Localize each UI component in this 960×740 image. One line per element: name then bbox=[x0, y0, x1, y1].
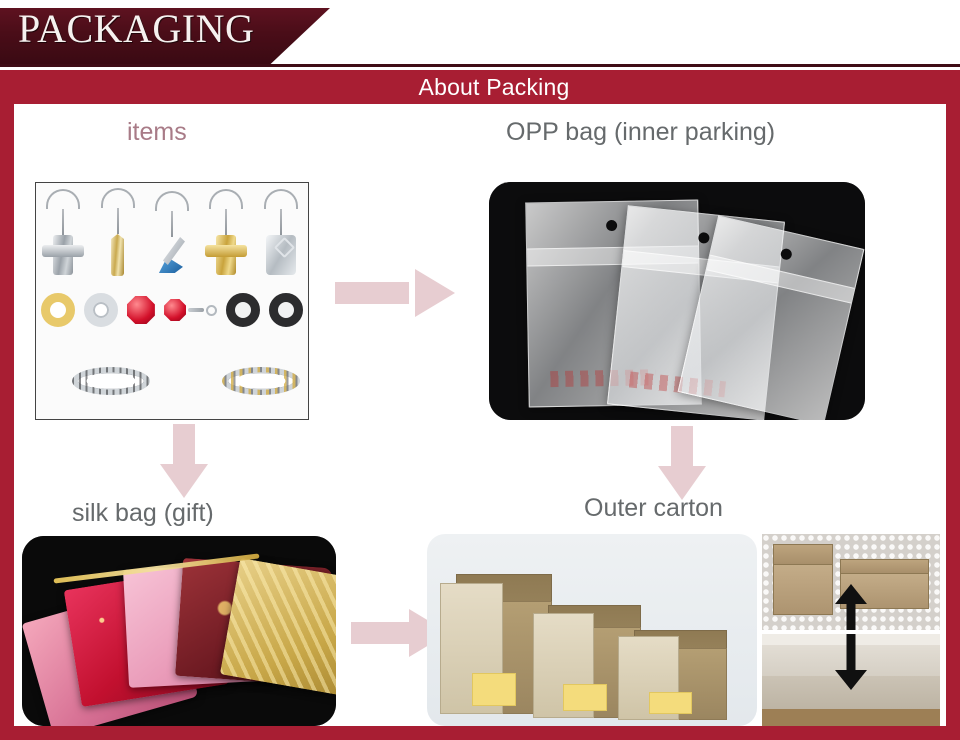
label-silk-bag: silk bag (gift) bbox=[72, 499, 214, 528]
header-zone: PACKAGING bbox=[0, 0, 960, 72]
photo-foam-padding bbox=[762, 634, 940, 726]
carton-stage bbox=[427, 534, 757, 726]
page-title: PACKAGING bbox=[18, 8, 254, 50]
diagram-canvas: items bbox=[14, 104, 946, 726]
arrow-opp-bag-to-carton bbox=[658, 426, 706, 500]
earring-black-hoop-2 bbox=[269, 293, 303, 327]
foam-layer-base bbox=[762, 709, 940, 726]
label-outer-carton: Outer carton bbox=[584, 494, 723, 523]
label-opp-bag: OPP bag (inner parking) bbox=[506, 118, 775, 147]
jewelry-row-pendants bbox=[36, 189, 308, 275]
banner-underline bbox=[0, 64, 960, 67]
silk-bag-stage bbox=[22, 536, 336, 726]
photo-outer-carton bbox=[427, 534, 757, 726]
bracelet-gold-accent bbox=[222, 367, 300, 395]
earring-black-hoop-1 bbox=[226, 293, 260, 327]
earring-red-gem bbox=[127, 296, 155, 324]
pendant-silver-tag bbox=[259, 189, 303, 275]
arrow-down-icon bbox=[831, 634, 871, 690]
carton-upright bbox=[773, 544, 834, 615]
photo-carton-with-bubble-wrap bbox=[762, 534, 940, 630]
jewelry-board bbox=[36, 183, 308, 419]
photo-opp-bag bbox=[489, 182, 865, 420]
subtitle-bar: About Packing bbox=[0, 70, 960, 104]
label-items: items bbox=[127, 118, 187, 147]
arrow-up-icon bbox=[831, 584, 871, 630]
pendant-gold-cross bbox=[204, 189, 248, 275]
photo-silk-bag bbox=[22, 536, 336, 726]
earring-red-stud bbox=[164, 299, 217, 321]
packaging-infographic: PACKAGING About Packing items bbox=[0, 0, 960, 740]
arrow-items-to-silk-bag bbox=[160, 424, 208, 498]
subtitle-text: About Packing bbox=[419, 74, 570, 101]
pendant-blue-design bbox=[150, 191, 194, 273]
photo-items bbox=[35, 182, 309, 420]
pendant-gold-bullet bbox=[96, 188, 140, 276]
arrow-items-to-opp-bag bbox=[335, 269, 455, 317]
earring-gold-hoop bbox=[41, 293, 75, 327]
bracelet-silver bbox=[72, 367, 150, 395]
carton-small bbox=[618, 620, 727, 720]
jewelry-row-earrings bbox=[36, 279, 308, 341]
jewelry-row-bracelets bbox=[36, 347, 308, 415]
earring-silver-hoop bbox=[84, 293, 118, 327]
content-frame: About Packing items bbox=[0, 70, 960, 740]
pendant-silver-cross bbox=[41, 189, 85, 275]
opp-bag-stage bbox=[489, 182, 865, 420]
